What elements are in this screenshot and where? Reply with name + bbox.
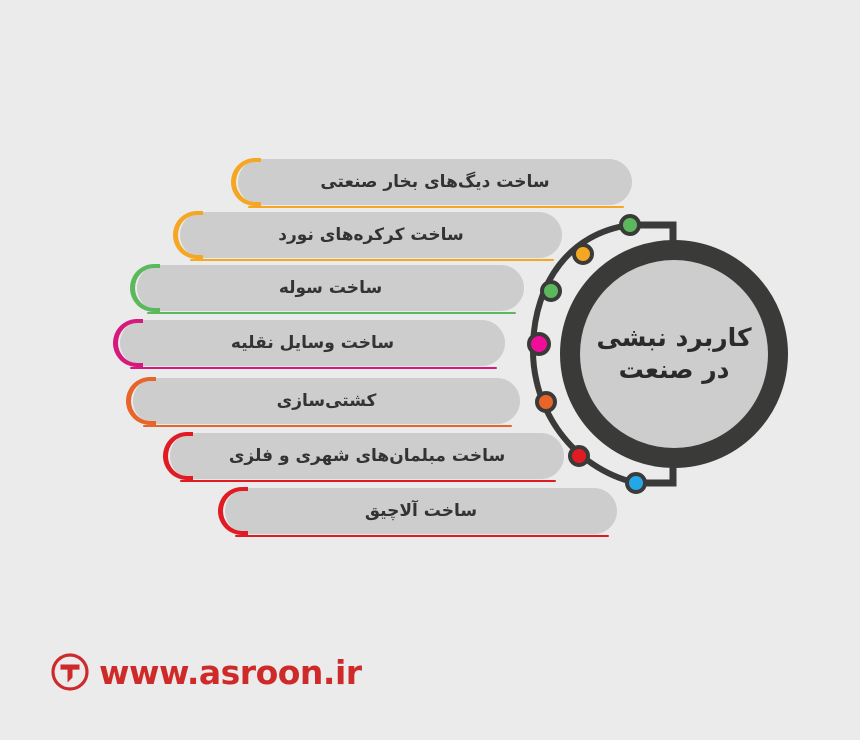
hub-circle: کاربرد نبشی در صنعت xyxy=(560,240,788,468)
hub-title-line-2: در صنعت xyxy=(619,354,730,387)
item-accent-cap xyxy=(163,432,193,480)
item-accent-cap xyxy=(126,377,156,425)
item-bar-6[interactable]: ساخت مبلمان‌های شهری و فلزی xyxy=(170,433,564,479)
item-accent-cap xyxy=(130,264,160,312)
track-dot-6 xyxy=(570,447,588,465)
item-label: ساخت سوله xyxy=(279,278,382,298)
item-bar-2[interactable]: ساخت کرکره‌های نورد xyxy=(180,212,562,258)
item-accent-cap xyxy=(231,158,261,206)
item-accent-cap xyxy=(113,319,143,367)
item-accent-underline xyxy=(130,367,497,369)
item-label: ساخت آلاچیق xyxy=(365,501,477,521)
item-accent-cap xyxy=(218,487,248,535)
item-label: کشتی‌سازی xyxy=(277,391,377,411)
item-bar-5[interactable]: کشتی‌سازی xyxy=(133,378,520,424)
item-bar-3[interactable]: ساخت سوله xyxy=(137,265,524,311)
item-accent-underline xyxy=(235,535,609,537)
item-accent-underline xyxy=(143,425,512,427)
item-label: ساخت مبلمان‌های شهری و فلزی xyxy=(229,446,505,466)
infographic-canvas: ساخت دیگ‌های بخار صنعتی ساخت کرکره‌های ن… xyxy=(0,0,860,740)
footer-brand[interactable]: www.asroon.ir xyxy=(50,652,362,692)
track-dot-5 xyxy=(537,393,555,411)
site-url-text: www.asroon.ir xyxy=(99,653,362,692)
hub-title-line-1: کاربرد نبشی xyxy=(596,322,751,355)
item-accent-cap xyxy=(173,211,203,259)
track-dot-2 xyxy=(574,245,592,263)
track-dot-3 xyxy=(542,282,560,300)
item-accent-underline xyxy=(248,206,624,208)
item-accent-underline xyxy=(147,312,516,314)
item-bar-7[interactable]: ساخت آلاچیق xyxy=(225,488,617,534)
item-accent-underline xyxy=(180,480,556,482)
item-label: ساخت دیگ‌های بخار صنعتی xyxy=(320,172,549,192)
item-label: ساخت کرکره‌های نورد xyxy=(278,225,463,245)
track-dot-7 xyxy=(627,474,645,492)
item-bar-4[interactable]: ساخت وسایل نقلیه xyxy=(120,320,505,366)
item-label: ساخت وسایل نقلیه xyxy=(231,333,394,353)
asroon-logo-icon xyxy=(50,652,90,692)
track-dot-1 xyxy=(621,216,639,234)
track-dot-4 xyxy=(529,334,549,354)
item-accent-underline xyxy=(190,259,554,261)
item-bar-1[interactable]: ساخت دیگ‌های بخار صنعتی xyxy=(238,159,632,205)
